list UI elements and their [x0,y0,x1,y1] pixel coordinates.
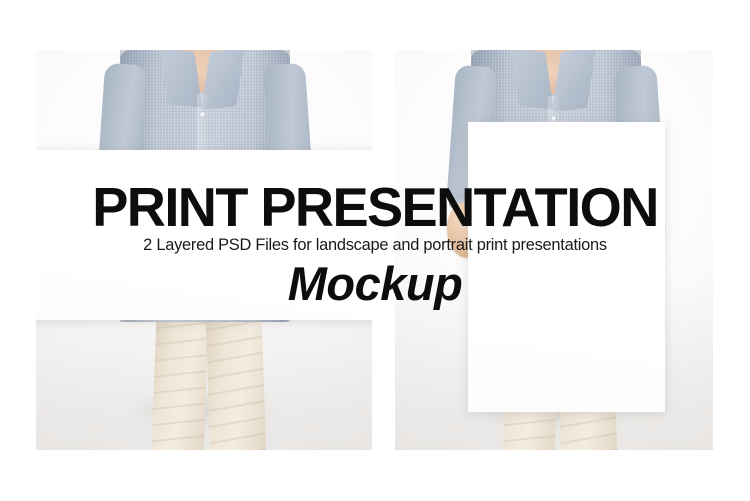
mockup-preview-canvas: PRINT PRESENTATION 2 Layered PSD Files f… [0,0,750,501]
mockup-wordmark: Mockup [0,258,750,310]
page-title: PRINT PRESENTATION [6,184,745,231]
shirt-button [551,116,556,121]
trouser-leg-right [205,311,266,450]
shirt-button [200,112,205,117]
trouser-leg-left [151,311,208,450]
headline-block: PRINT PRESENTATION 2 Layered PSD Files f… [0,184,750,310]
